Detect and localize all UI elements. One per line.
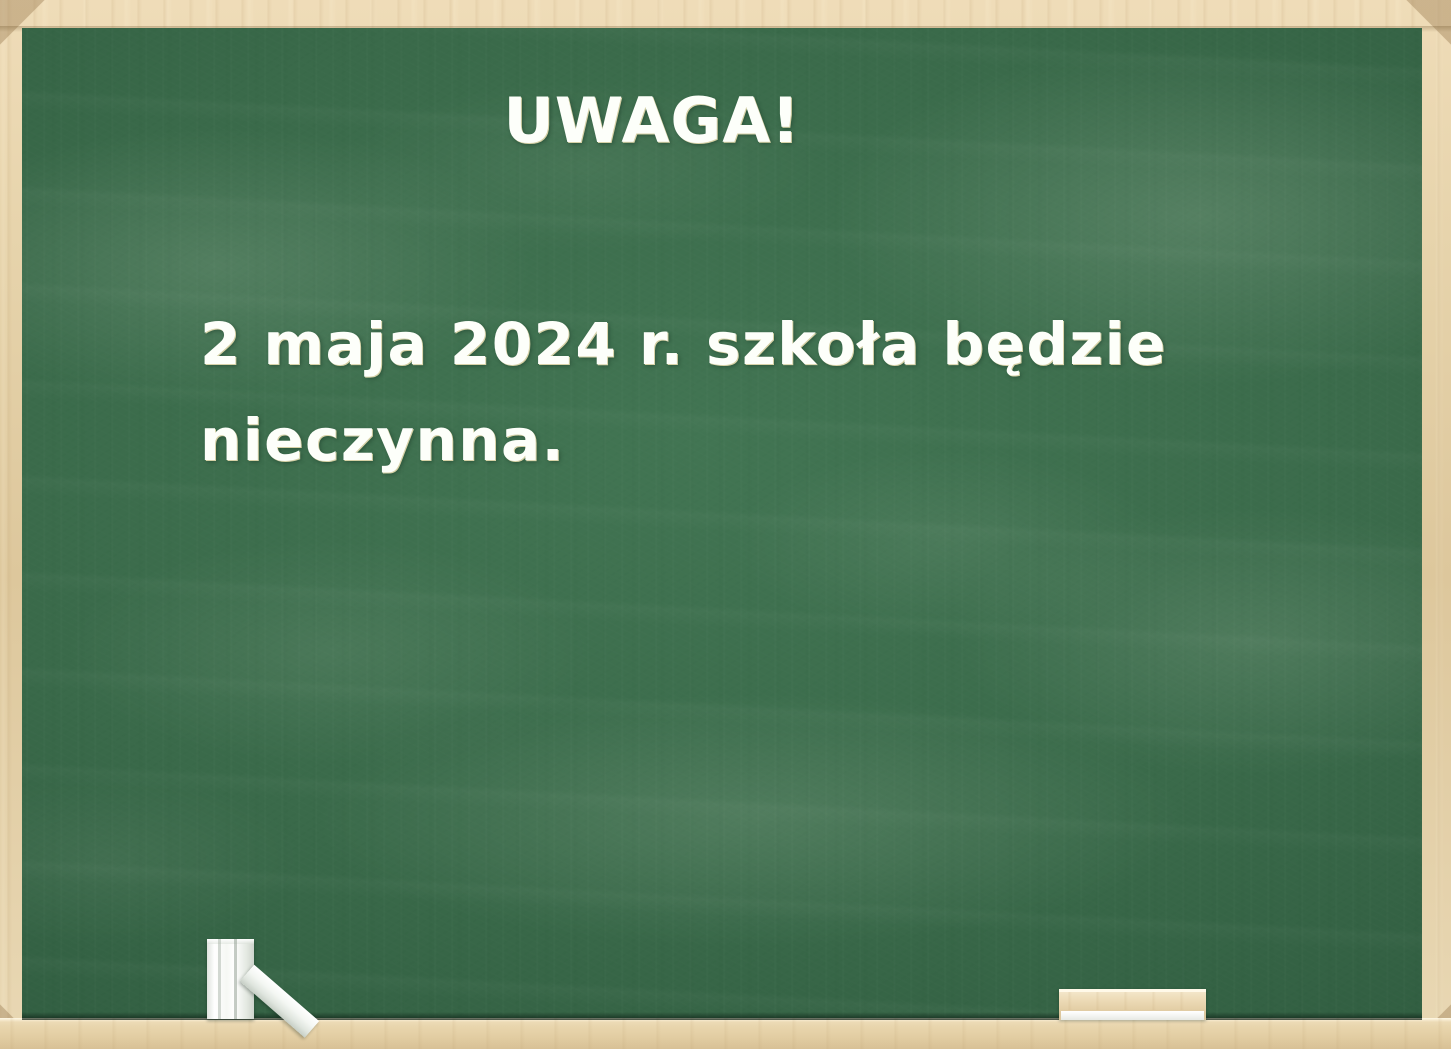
chalk-stick-seam xyxy=(218,939,221,1019)
chalk-ledge xyxy=(0,1018,1451,1049)
eraser-felt-pad xyxy=(1061,1011,1204,1020)
message-line-2: nieczynna. xyxy=(200,392,1320,488)
eraser-wood-grain xyxy=(1059,992,1206,1010)
ledge-wood-grain xyxy=(0,1018,1451,1049)
announcement-message: 2 maja 2024 r. szkoła będzie nieczynna. xyxy=(200,296,1320,488)
chalkboard-announcement-scene: UWAGA! 2 maja 2024 r. szkoła będzie niec… xyxy=(0,0,1451,1049)
chalkboard-surface: UWAGA! 2 maja 2024 r. szkoła będzie niec… xyxy=(22,28,1422,1018)
chalkboard-text-block: UWAGA! 2 maja 2024 r. szkoła będzie niec… xyxy=(22,28,1422,1018)
announcement-headline: UWAGA! xyxy=(22,84,1422,157)
message-line-1: 2 maja 2024 r. szkoła będzie xyxy=(200,296,1320,392)
blackboard-eraser xyxy=(1059,989,1206,1020)
